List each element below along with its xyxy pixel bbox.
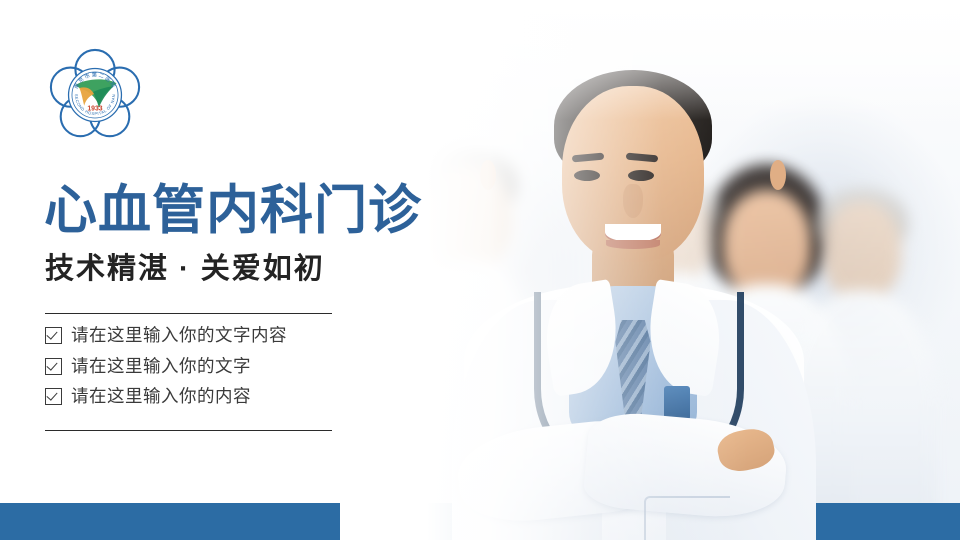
presentation-slide: 1933 南京市第二医院 THE SECOND HOSPITAL OF NANJ…: [0, 0, 960, 540]
page-title: 心血管内科门诊: [44, 182, 422, 239]
divider-bottom: [45, 430, 332, 431]
doctor-ear-right: [770, 160, 786, 190]
checkbox-checked-icon: [45, 327, 62, 344]
doctor-coat-pocket: [644, 496, 730, 540]
list-item-label: 请在这里输入你的文字: [71, 358, 251, 376]
background-person-3: [340, 238, 442, 538]
hospital-logo: 1933 南京市第二医院 THE SECOND HOSPITAL OF NANJ…: [46, 46, 144, 144]
foreground-doctor: [468, 34, 798, 540]
page-subtitle: 技术精湛 · 关爱如初: [45, 252, 325, 287]
checkbox-checked-icon: [45, 358, 62, 375]
divider-top: [45, 313, 332, 314]
list-item: 请在这里输入你的文字: [45, 358, 287, 376]
doctor-eye-right: [628, 170, 654, 181]
list-item-label: 请在这里输入你的文字内容: [71, 327, 287, 345]
list-item: 请在这里输入你的内容: [45, 388, 287, 406]
doctor-id-badge: [664, 386, 690, 420]
footer-caption: 南京市第二医院汤山院区 | www.yippt.com: [43, 0, 336, 37]
list-item: 请在这里输入你的文字内容: [45, 327, 287, 345]
checkbox-checked-icon: [45, 388, 62, 405]
list-item-label: 请在这里输入你的内容: [71, 388, 251, 406]
doctor-eye-left: [574, 170, 600, 181]
doctor-lower-lip: [606, 240, 660, 249]
hero-photo: [340, 0, 960, 540]
doctor-ear-left: [480, 160, 496, 190]
doctor-nose: [623, 184, 643, 218]
bullet-list: 请在这里输入你的文字内容 请在这里输入你的文字 请在这里输入你的内容: [45, 327, 287, 406]
